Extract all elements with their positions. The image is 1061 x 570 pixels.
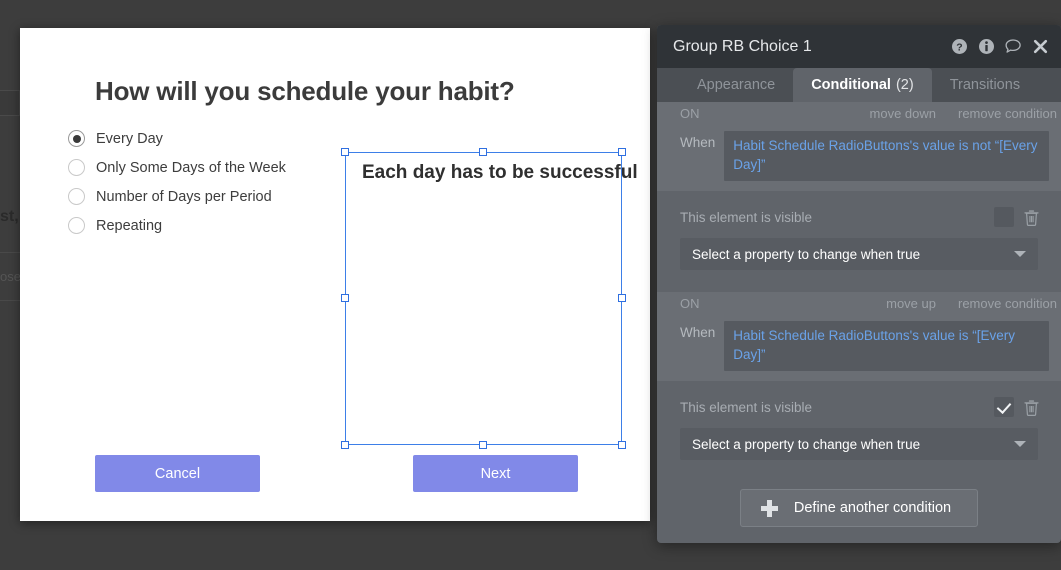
property-select-value: Select a property to change when true (692, 247, 1014, 262)
radio-unselected-icon (68, 188, 85, 205)
condition-header: ON move down remove condition (657, 102, 1061, 125)
remove-condition-link[interactable]: remove condition (958, 106, 1057, 121)
remove-condition-link[interactable]: remove condition (958, 296, 1057, 311)
radio-unselected-icon (68, 159, 85, 176)
condition-property-label: This element is visible (680, 400, 994, 415)
bg-element-box (0, 90, 20, 116)
resize-handle-bottom-center[interactable] (479, 441, 487, 449)
resize-handle-bottom-left[interactable] (341, 441, 349, 449)
radio-option-label: Repeating (96, 218, 162, 234)
next-button[interactable]: Next (413, 455, 578, 492)
property-select-value: Select a property to change when true (692, 437, 1014, 452)
resize-handle-bottom-right[interactable] (618, 441, 626, 449)
condition-row: ON move down remove condition When Habit… (657, 102, 1061, 270)
tab-label: Transitions (950, 77, 1020, 93)
tab-conditional[interactable]: Conditional (2) (793, 68, 931, 102)
resize-handle-top-left[interactable] (341, 148, 349, 156)
condition-property-label: This element is visible (680, 210, 994, 225)
tab-label: Conditional (811, 77, 891, 93)
radio-option-label: Every Day (96, 131, 163, 147)
visibility-checkbox[interactable] (994, 207, 1014, 227)
page-title: How will you schedule your habit? (95, 76, 515, 107)
panel-footer: Define another condition (657, 473, 1061, 543)
resize-handle-top-center[interactable] (479, 148, 487, 156)
info-icon[interactable] (978, 38, 995, 55)
tab-label: Appearance (697, 77, 775, 93)
condition-expression[interactable]: Habit Schedule RadioButtons's value is “… (724, 321, 1049, 371)
comment-icon[interactable] (1005, 38, 1022, 55)
property-select[interactable]: Select a property to change when true (680, 428, 1038, 460)
condition-expression[interactable]: Habit Schedule RadioButtons's value is n… (724, 131, 1049, 181)
condition-header: ON move up remove condition (657, 292, 1061, 315)
panel-title: Group RB Choice 1 (673, 38, 951, 56)
selected-element-group-rb-choice-1[interactable]: Each day has to be successful (345, 152, 622, 445)
close-icon[interactable] (1032, 38, 1049, 55)
radio-option-some-days[interactable]: Only Some Days of the Week (68, 154, 286, 181)
define-another-condition-button[interactable]: Define another condition (740, 489, 978, 527)
condition-on-label: ON (680, 106, 700, 121)
delete-property-icon[interactable] (1024, 399, 1039, 416)
radio-unselected-icon (68, 217, 85, 234)
radio-option-label: Only Some Days of the Week (96, 160, 286, 176)
condition-row: ON move up remove condition When Habit S… (657, 292, 1061, 460)
condition-separator (657, 270, 1061, 292)
resize-handle-middle-right[interactable] (618, 294, 626, 302)
delete-property-icon[interactable] (1024, 209, 1039, 226)
habit-schedule-radio-group[interactable]: Every Day Only Some Days of the Week Num… (68, 125, 286, 241)
cancel-button[interactable]: Cancel (95, 455, 260, 492)
bg-divider-1 (0, 252, 20, 253)
when-label: When (680, 321, 715, 371)
condition-property-row: This element is visible (657, 191, 1061, 227)
chevron-down-icon (1014, 251, 1026, 257)
resize-handle-top-right[interactable] (618, 148, 626, 156)
property-select[interactable]: Select a property to change when true (680, 238, 1038, 270)
panel-tabs[interactable]: Appearance Conditional (2) Transitions (657, 68, 1061, 102)
condition-when-row: When Habit Schedule RadioButtons's value… (657, 125, 1061, 181)
plus-icon (761, 500, 778, 517)
resize-handle-middle-left[interactable] (341, 294, 349, 302)
when-label: When (680, 131, 715, 181)
selected-element-text: Each day has to be successful (362, 162, 638, 184)
svg-text:?: ? (956, 41, 962, 53)
move-up-link[interactable]: move up (886, 296, 936, 311)
bg-text-fragment: ose (0, 269, 20, 284)
condition-select-row: Select a property to change when true (657, 417, 1061, 460)
panel-header-icons: ? (951, 38, 1049, 55)
conditional-tab-content: ON move down remove condition When Habit… (657, 102, 1061, 543)
radio-option-label: Number of Days per Period (96, 189, 272, 205)
define-another-condition-label: Define another condition (794, 500, 951, 516)
bg-divider-2 (0, 300, 20, 301)
app-root: st, ose How will you schedule your habit… (0, 0, 1061, 570)
radio-selected-icon (68, 130, 85, 147)
schedule-habit-modal: How will you schedule your habit? Every … (20, 28, 650, 521)
radio-option-every-day[interactable]: Every Day (68, 125, 286, 152)
tab-transitions[interactable]: Transitions (932, 68, 1038, 102)
condition-on-label: ON (680, 296, 700, 311)
move-down-link[interactable]: move down (870, 106, 936, 121)
property-editor-panel: Group RB Choice 1 ? (657, 25, 1061, 543)
help-icon[interactable]: ? (951, 38, 968, 55)
visibility-checkbox[interactable] (994, 397, 1014, 417)
condition-property-row: This element is visible (657, 381, 1061, 417)
tab-count: (2) (896, 77, 914, 93)
bg-text-fragment: st, (0, 208, 20, 226)
chevron-down-icon (1014, 441, 1026, 447)
radio-option-days-per-period[interactable]: Number of Days per Period (68, 183, 286, 210)
condition-select-row: Select a property to change when true (657, 227, 1061, 270)
radio-option-repeating[interactable]: Repeating (68, 212, 286, 239)
tab-appearance[interactable]: Appearance (679, 68, 793, 102)
panel-header: Group RB Choice 1 ? (657, 25, 1061, 68)
condition-when-row: When Habit Schedule RadioButtons's value… (657, 315, 1061, 371)
